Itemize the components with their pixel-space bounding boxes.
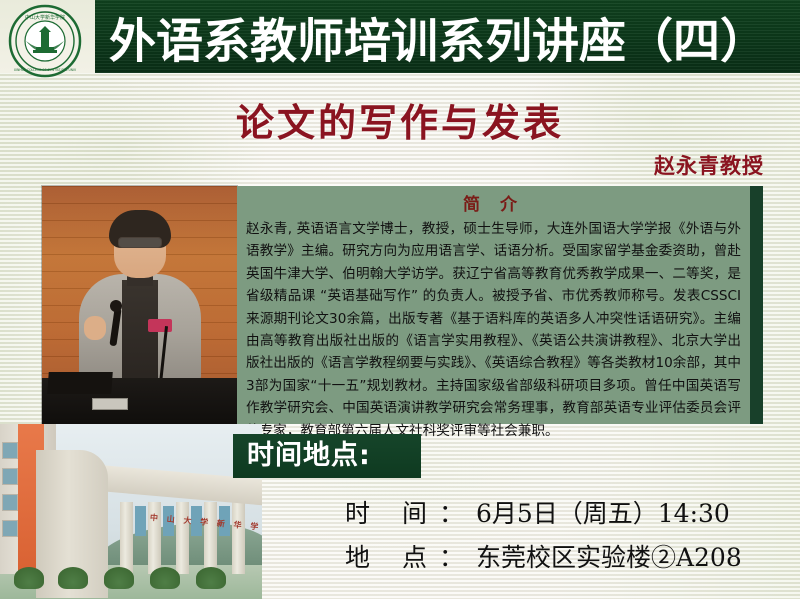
- speaker-photo: [42, 186, 237, 424]
- building-window: [2, 468, 18, 485]
- photo-microphone-head: [110, 300, 122, 312]
- lecture-subtitle: 论文的写作与发表: [0, 92, 800, 147]
- biography-title: 简 介: [237, 186, 750, 215]
- building-column: [232, 502, 245, 574]
- biography-text: 赵永青, 英语语言文学博士，教授，硕士生导师，大连外国语大学学报《外语与外语教学…: [237, 215, 750, 442]
- header-band: 外语系教师培训系列讲座（四）: [95, 0, 800, 73]
- detail-place-row: 地 点：东莞校区实验楼②A208: [345, 538, 742, 574]
- detail-time-label: 时 间：: [345, 499, 476, 528]
- building-shrub: [196, 567, 226, 589]
- detail-time-value: 6月5日（周五）14:30: [476, 499, 730, 528]
- details-heading-band: 时间地点:: [233, 434, 421, 478]
- detail-place-label: 地 点：: [345, 543, 476, 572]
- building-shrub: [14, 567, 44, 589]
- university-seal-logo: 中山大学新华学院 XINHUA COLLEGE OF SUN YAT-SEN U…: [8, 4, 82, 78]
- building-column-window: [135, 506, 146, 536]
- lecture-poster: 外语系教师培训系列讲座（四） 中山大学新华学院 XINHUA COLLEGE O…: [0, 0, 800, 599]
- photo-laptop: [47, 372, 113, 394]
- photo-person-hand: [84, 316, 106, 340]
- page-title: 外语系教师培训系列讲座（四）: [109, 2, 767, 71]
- photo-podium-label: [92, 398, 128, 410]
- building-shrub: [104, 567, 134, 589]
- photo-person-glasses: [118, 237, 162, 248]
- building-column: [120, 502, 133, 574]
- details-heading-label: 时间地点:: [233, 434, 421, 478]
- detail-time-row: 时 间：6月5日（周五）14:30: [345, 494, 730, 530]
- building-shrub: [150, 567, 180, 589]
- building-window: [2, 520, 18, 537]
- speaker-name: 赵永青教授: [654, 150, 764, 180]
- building-window: [2, 494, 18, 511]
- building-window: [2, 442, 18, 459]
- campus-building-photo: 中 山 大 学 新 华 学 院: [0, 424, 262, 599]
- building-column: [176, 502, 189, 574]
- svg-text:中山大学新华学院: 中山大学新华学院: [25, 14, 65, 21]
- biography-panel: 简 介 赵永青, 英语语言文学博士，教授，硕士生导师，大连外国语大学学报《外语与…: [237, 186, 763, 424]
- svg-text:XINHUA COLLEGE OF SUN YAT-SEN: XINHUA COLLEGE OF SUN YAT-SEN UNIV: [14, 68, 77, 72]
- detail-place-value: 东莞校区实验楼②A208: [476, 543, 742, 572]
- building-column: [204, 502, 217, 574]
- building-shrub: [58, 567, 88, 589]
